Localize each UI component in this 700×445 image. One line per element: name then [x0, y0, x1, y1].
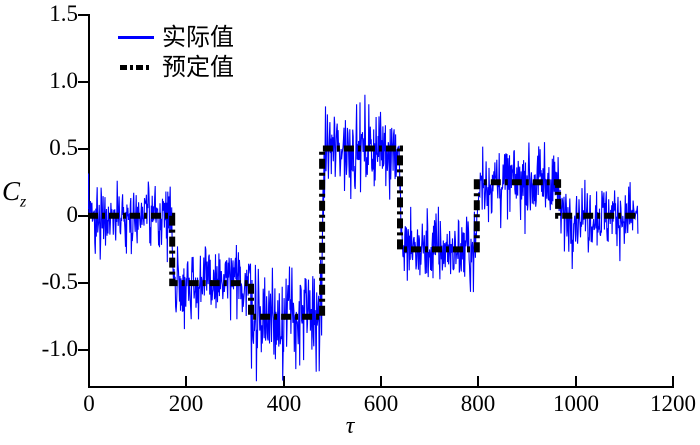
y-tick-label-text: 1.0: [49, 69, 78, 92]
x-tick-label-text: 1000: [553, 392, 599, 415]
x-tick-label-text: 800: [461, 392, 496, 415]
legend-item-actual: 实际值: [118, 22, 268, 52]
x-tick-label-text: 0: [83, 392, 95, 415]
y-tick-label-text: -0.5: [42, 270, 78, 293]
x-tick-mark: [88, 376, 90, 387]
x-tick-mark: [380, 376, 382, 387]
y-tick-mark: [78, 282, 88, 284]
chart-figure: 1.5 1.0 0.5 0 -0.5 -1.0 0 200 400 600 80…: [0, 0, 700, 445]
chart-canvas: [0, 0, 700, 445]
x-tick-mark: [185, 376, 187, 387]
legend-line-dashdot-icon: [118, 59, 154, 75]
x-tick-mark: [477, 376, 479, 387]
y-tick-label-text: 0: [67, 203, 79, 226]
x-tick-mark: [575, 376, 577, 387]
legend: 实际值 预定值: [118, 22, 268, 82]
y-axis-line: [88, 14, 90, 388]
x-tick-mark: [283, 376, 285, 387]
x-tick-label-text: 1200: [650, 392, 696, 415]
y-tick-label: 0.5: [0, 136, 78, 160]
x-tick-label: 400: [239, 392, 329, 416]
x-tick-label: 0: [44, 392, 134, 416]
y-tick-label-text: -1.0: [42, 337, 78, 360]
x-axis-title-text: τ: [346, 413, 355, 439]
x-tick-label-text: 400: [267, 392, 302, 415]
x-tick-mark: [672, 376, 674, 387]
y-tick-label: 1.5: [0, 2, 78, 26]
y-axis-title-main: C: [2, 176, 20, 206]
y-axis-title: Cz: [2, 178, 26, 210]
y-axis-title-sub: z: [20, 193, 26, 210]
legend-label-actual: 实际值: [162, 25, 234, 49]
x-tick-label: 1200: [628, 392, 700, 416]
x-tick-label-text: 600: [364, 392, 399, 415]
y-tick-label: -0.5: [0, 270, 78, 294]
y-tick-mark: [78, 14, 88, 16]
legend-line-solid-icon: [118, 29, 154, 45]
x-tick-label: 800: [433, 392, 523, 416]
y-tick-mark: [78, 81, 88, 83]
x-tick-label: 200: [141, 392, 231, 416]
x-tick-label: 1000: [531, 392, 621, 416]
legend-label-reference: 预定值: [162, 55, 234, 79]
x-tick-label-text: 200: [169, 392, 204, 415]
y-tick-mark: [78, 215, 88, 217]
y-tick-label: 1.0: [0, 69, 78, 93]
series-actual-value: [88, 95, 638, 382]
y-tick-label-text: 0.5: [49, 136, 78, 159]
y-tick-mark: [78, 148, 88, 150]
y-tick-label: -1.0: [0, 337, 78, 361]
series-reference-value: [88, 149, 637, 317]
legend-item-reference: 预定值: [118, 52, 268, 82]
x-axis-title: τ: [0, 414, 700, 438]
y-tick-mark: [78, 349, 88, 351]
y-tick-label-text: 1.5: [49, 2, 78, 25]
